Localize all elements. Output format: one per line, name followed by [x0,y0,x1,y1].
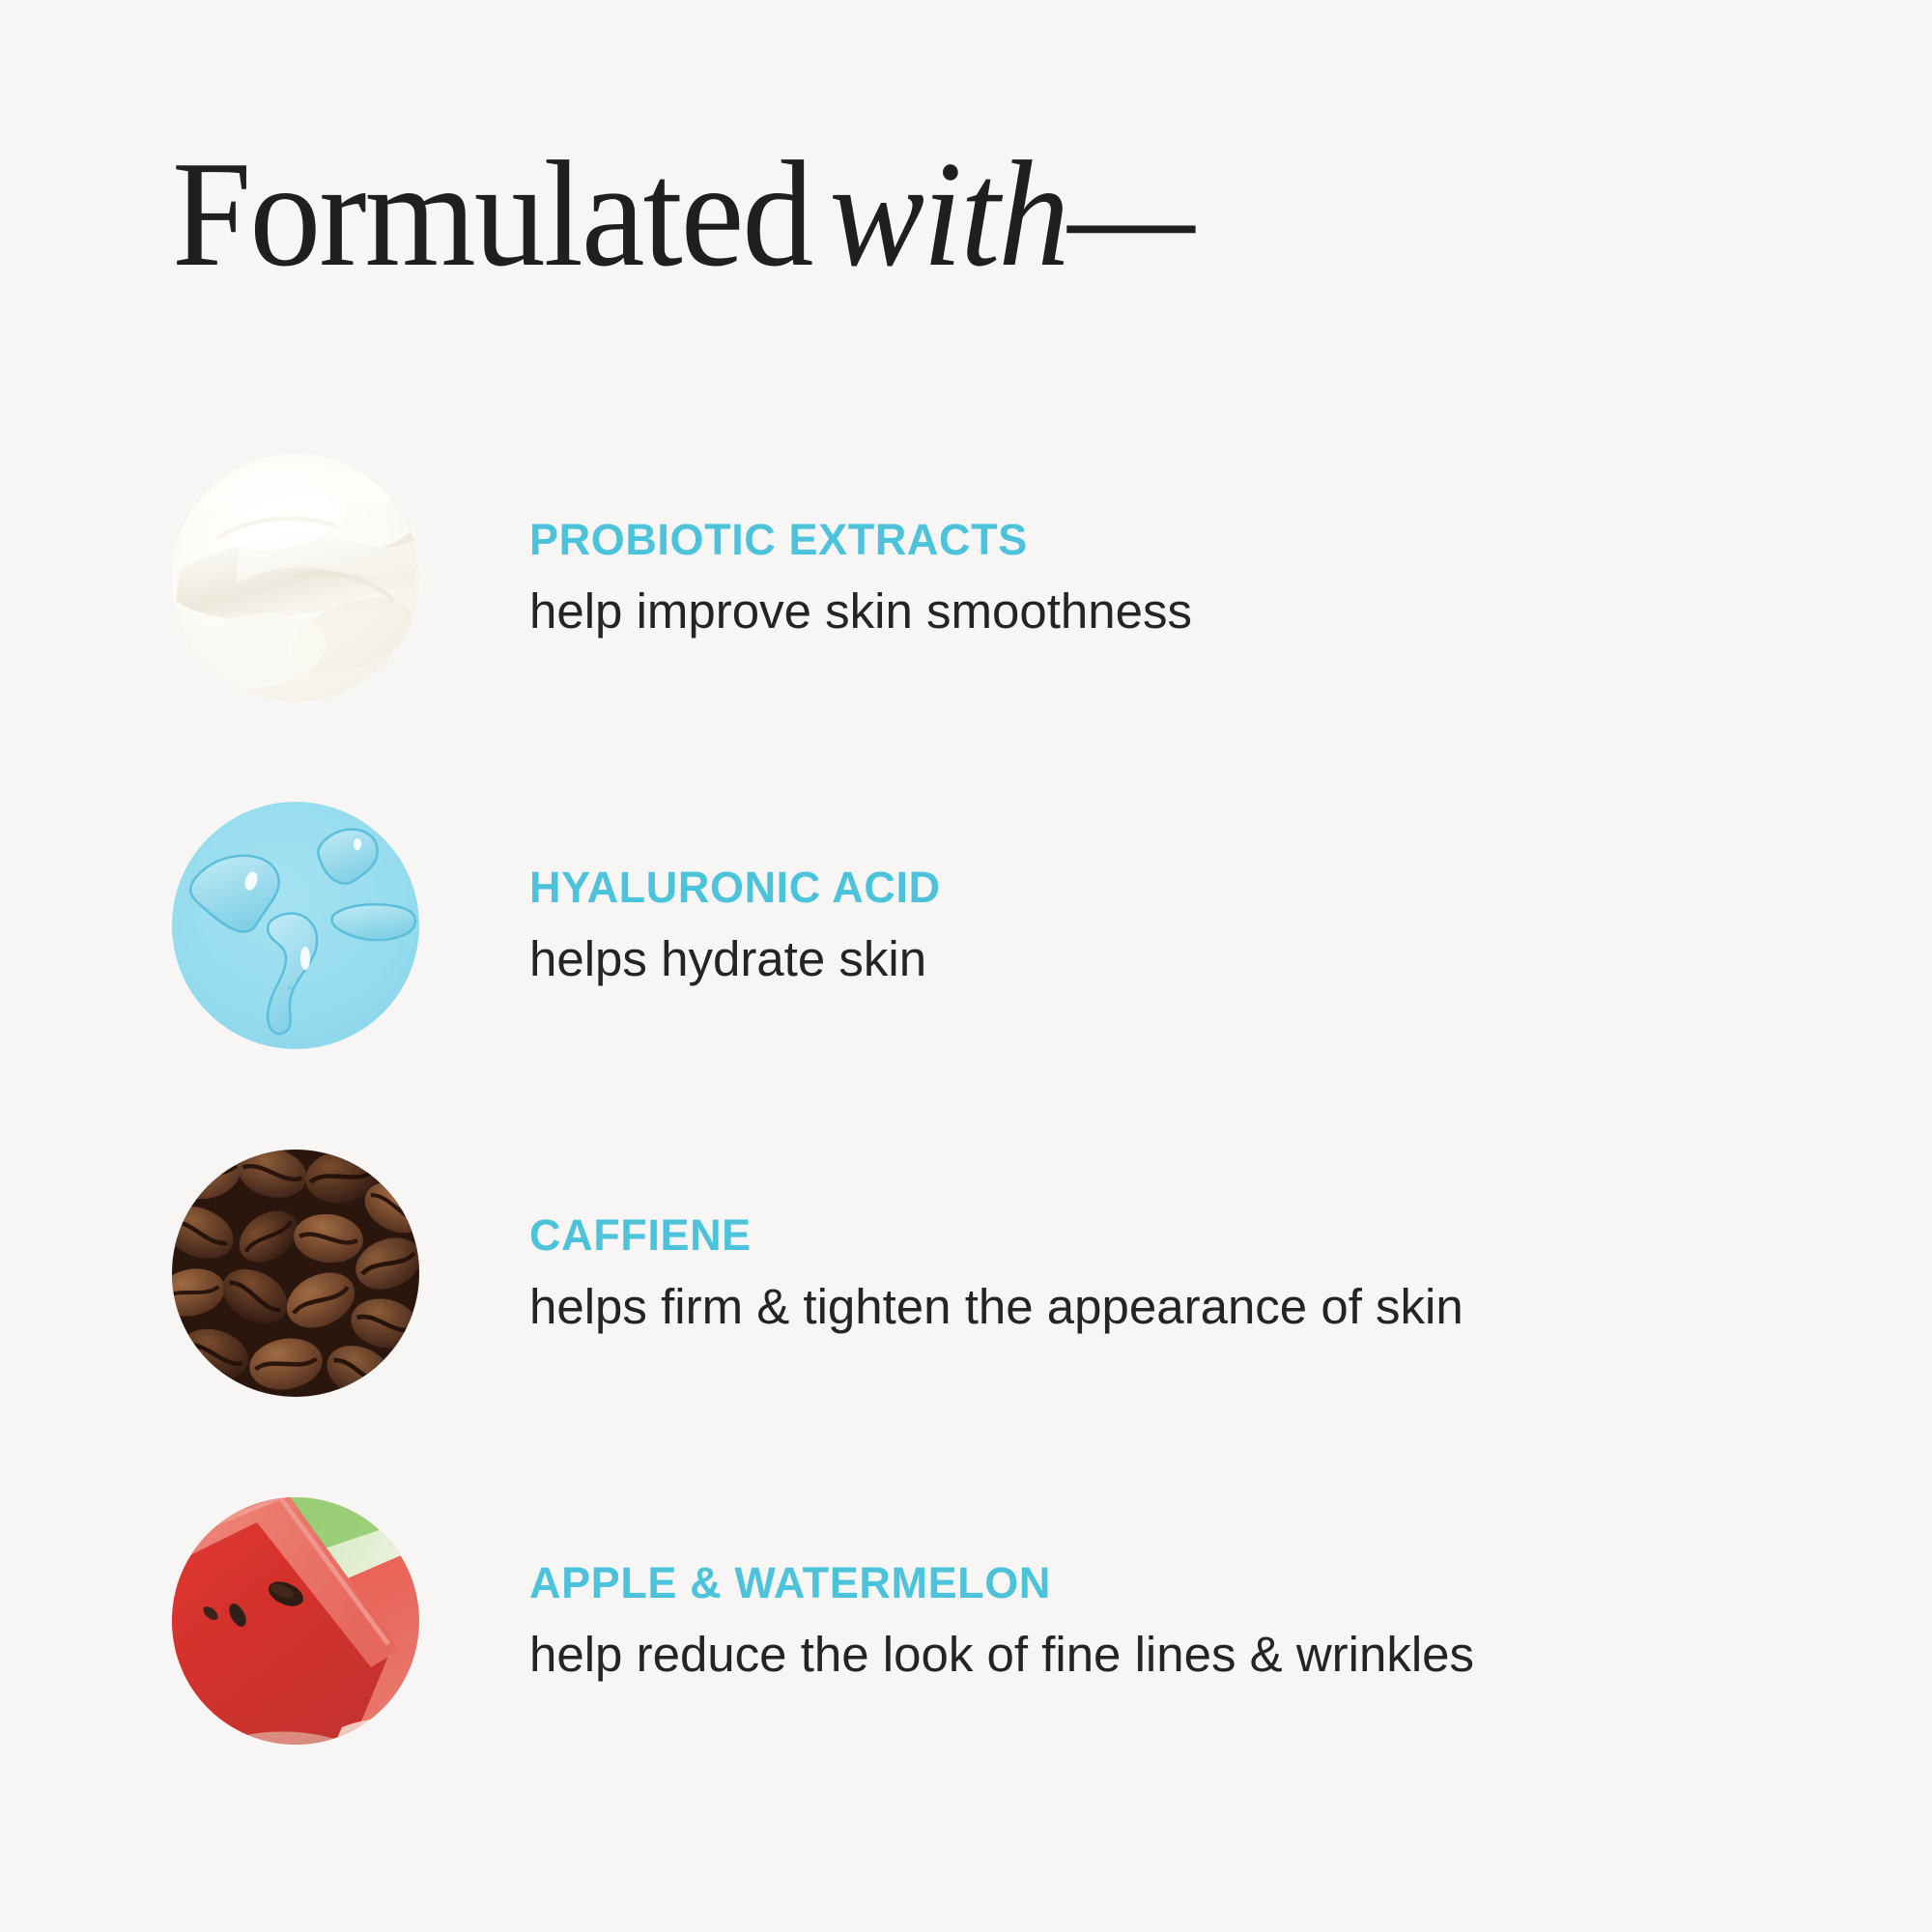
ingredient-text-block: CAFFIENE helps firm & tighten the appear… [529,1211,1785,1335]
ingredient-thumbnail-gel-droplets [172,802,419,1049]
ingredient-text-block: HYALURONIC ACID helps hydrate skin [529,864,1785,987]
page-title-roman: Formulated [172,139,811,291]
ingredient-name: CAFFIENE [529,1211,1785,1260]
ingredient-description: helps firm & tighten the appearance of s… [529,1279,1785,1336]
coffee-beans-icon [172,1150,419,1397]
ingredient-item-probiotic-extracts: PROBIOTIC EXTRACTS help improve skin smo… [0,433,1932,781]
ingredient-text-block: APPLE & WATERMELON help reduce the look … [529,1559,1785,1683]
ingredient-text-block: PROBIOTIC EXTRACTS help improve skin smo… [529,516,1785,639]
ingredient-item-hyaluronic-acid: HYALURONIC ACID helps hydrate skin [0,781,1932,1128]
ingredient-name: PROBIOTIC EXTRACTS [529,516,1785,564]
cream-swirl-icon [172,454,419,701]
ingredient-item-caffiene: CAFFIENE helps firm & tighten the appear… [0,1128,1932,1476]
page-title-italic: with— [811,139,1193,291]
ingredient-name: APPLE & WATERMELON [529,1559,1785,1607]
ingredient-thumbnail-watermelon [172,1497,419,1745]
page-title: Formulatedwith— [172,143,1193,286]
formulated-with-panel: Formulatedwith— [0,0,1932,1932]
ingredient-description: helps hydrate skin [529,931,1785,988]
ingredient-description: help reduce the look of fine lines & wri… [529,1627,1785,1684]
watermelon-icon [172,1497,419,1745]
ingredient-list: PROBIOTIC EXTRACTS help improve skin smo… [0,433,1932,1824]
ingredient-thumbnail-coffee-beans [172,1150,419,1397]
ingredient-item-apple-watermelon: APPLE & WATERMELON help reduce the look … [0,1476,1932,1824]
ingredient-thumbnail-cream-swirl [172,454,419,701]
gel-droplets-icon [172,802,419,1049]
ingredient-name: HYALURONIC ACID [529,864,1785,912]
ingredient-description: help improve skin smoothness [529,583,1785,640]
